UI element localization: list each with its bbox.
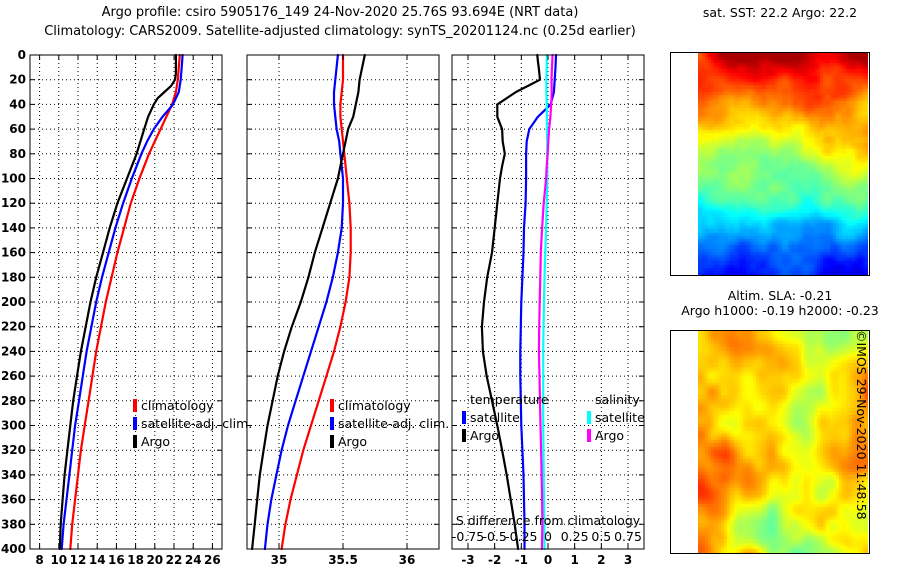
- svg-text:280: 280: [1, 394, 26, 408]
- svg-text:10: 10: [50, 553, 67, 567]
- svg-text:300: 300: [1, 419, 26, 433]
- svg-text:3: 3: [624, 553, 632, 567]
- svg-text:140: 140: [1, 221, 26, 235]
- argo-profile-figure: Argo profile: csiro 5905176_149 24-Nov-2…: [0, 0, 900, 580]
- svg-text:Argo: Argo: [470, 428, 499, 443]
- svg-text:Argo: Argo: [595, 428, 624, 443]
- svg-text:320: 320: [1, 443, 26, 457]
- svg-text:salinity: salinity: [595, 392, 640, 407]
- svg-text:12: 12: [70, 553, 87, 567]
- svg-text:220: 220: [1, 320, 26, 334]
- svg-text:160: 160: [1, 246, 26, 260]
- svg-text:satellite: satellite: [470, 410, 520, 425]
- svg-text:satellite-adj. clim.: satellite-adj. clim.: [141, 416, 252, 431]
- figure-title-line1: Argo profile: csiro 5905176_149 24-Nov-2…: [0, 5, 680, 20]
- svg-text:Argo: Argo: [141, 434, 170, 449]
- svg-text:climatology: climatology: [338, 398, 411, 413]
- svg-text:360: 360: [1, 493, 26, 507]
- svg-text:climatology: climatology: [141, 398, 214, 413]
- svg-text:-0.5: -0.5: [482, 529, 506, 544]
- svg-text:temperature: temperature: [470, 392, 549, 407]
- svg-text:0: 0: [18, 48, 26, 62]
- svg-text:0.25: 0.25: [561, 529, 589, 544]
- svg-text:1: 1: [570, 553, 578, 567]
- svg-text:-2: -2: [488, 553, 501, 567]
- svg-text:-1: -1: [515, 553, 528, 567]
- svg-text:-3: -3: [461, 553, 474, 567]
- svg-text:-0.25: -0.25: [505, 529, 537, 544]
- svg-text:35.5: 35.5: [328, 553, 358, 567]
- svg-text:-0.75: -0.75: [452, 529, 484, 544]
- svg-text:40: 40: [9, 97, 26, 111]
- svg-text:36: 36: [399, 553, 416, 567]
- svg-text:26: 26: [204, 553, 221, 567]
- svg-text:20: 20: [146, 553, 163, 567]
- svg-text:0: 0: [544, 553, 552, 567]
- svg-text:200: 200: [1, 295, 26, 309]
- sst-map-image: [698, 53, 868, 275]
- svg-text:400: 400: [1, 542, 26, 556]
- svg-text:S difference from climatology: S difference from climatology: [456, 513, 641, 528]
- sla-map-title-line2: Argo h1000: -0.19 h2000: -0.23: [660, 303, 900, 318]
- svg-text:120: 120: [1, 196, 26, 210]
- svg-text:2: 2: [597, 553, 605, 567]
- svg-text:340: 340: [1, 468, 26, 482]
- svg-text:22: 22: [166, 553, 183, 567]
- svg-text:100: 100: [1, 172, 26, 186]
- svg-text:260: 260: [1, 369, 26, 383]
- svg-text:35: 35: [271, 553, 288, 567]
- svg-text:18: 18: [127, 553, 144, 567]
- svg-text:satellite-adj. clim.: satellite-adj. clim.: [338, 416, 449, 431]
- svg-text:8: 8: [35, 553, 43, 567]
- svg-text:0.75: 0.75: [614, 529, 642, 544]
- svg-text:16: 16: [108, 553, 125, 567]
- sla-map-image: [698, 331, 868, 553]
- svg-text:380: 380: [1, 517, 26, 531]
- svg-text:14: 14: [89, 553, 106, 567]
- svg-text:20: 20: [9, 73, 26, 87]
- svg-text:0: 0: [544, 529, 552, 544]
- figure-title-line2: Climatology: CARS2009. Satellite-adjuste…: [0, 24, 680, 39]
- svg-text:60: 60: [9, 122, 26, 136]
- svg-text:Argo: Argo: [338, 434, 367, 449]
- svg-text:24: 24: [185, 553, 202, 567]
- sla-map-title-line1: Altim. SLA: -0.21: [660, 288, 900, 303]
- svg-text:180: 180: [1, 270, 26, 284]
- svg-text:80: 80: [9, 147, 26, 161]
- svg-text:240: 240: [1, 344, 26, 358]
- svg-text:0.5: 0.5: [591, 529, 611, 544]
- svg-text:satellite: satellite: [595, 410, 645, 425]
- sst-map-title: sat. SST: 22.2 Argo: 22.2: [660, 5, 900, 20]
- copyright-label: ©IMOS 29-Nov-2020 11:48:58: [854, 330, 869, 530]
